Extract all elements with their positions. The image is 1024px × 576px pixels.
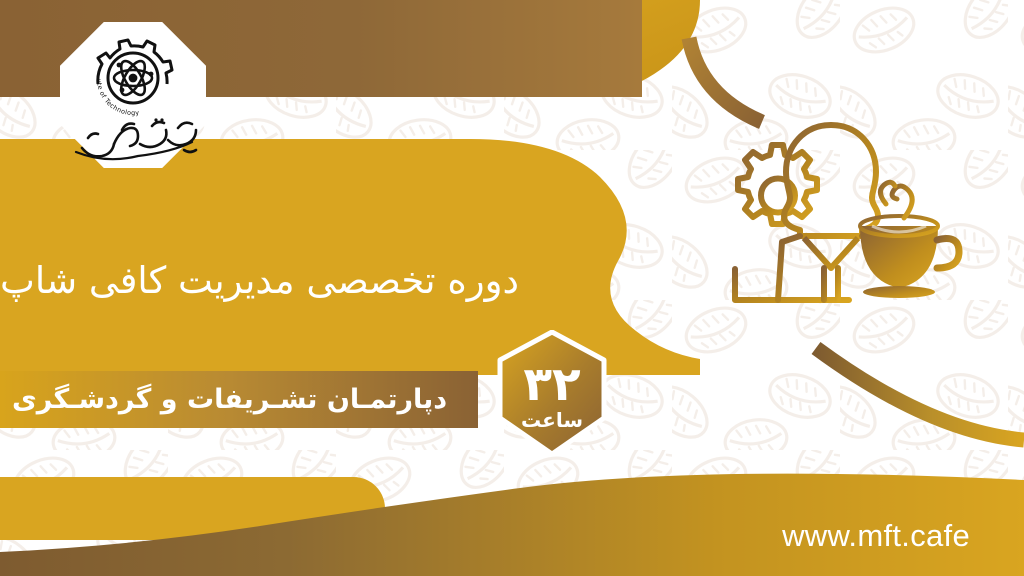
hours-badge: ۳۲ ساعت — [494, 330, 610, 456]
department-bar: دپارتمـان تشـریفات و گردشـگری — [0, 371, 478, 428]
website-url[interactable]: www.mft.cafe — [782, 518, 970, 554]
hours-number: ۳۲ — [523, 361, 580, 408]
mft-logo[interactable]: Tehran Institute of Technology — [60, 22, 206, 168]
page-title: دوره تخصصی مدیریت کافی شاپ — [0, 256, 519, 306]
department-label: دپارتمـان تشـریفات و گردشـگری — [12, 384, 493, 415]
diagonal-gold-stroke — [816, 348, 1024, 440]
mft-persian-wordmark — [66, 110, 200, 164]
title-container: دوره تخصصی مدیریت کافی شاپ — [0, 226, 640, 336]
manager-person-icon — [784, 125, 878, 236]
desk-line — [735, 269, 849, 300]
coffee-management-illustration — [686, 108, 986, 330]
hours-unit-label: ساعت — [521, 410, 583, 430]
gear-icon — [738, 145, 817, 224]
course-promo-banner: www.mft.cafe دوره تخصصی مدیریت کافی شاپ … — [0, 0, 1024, 576]
